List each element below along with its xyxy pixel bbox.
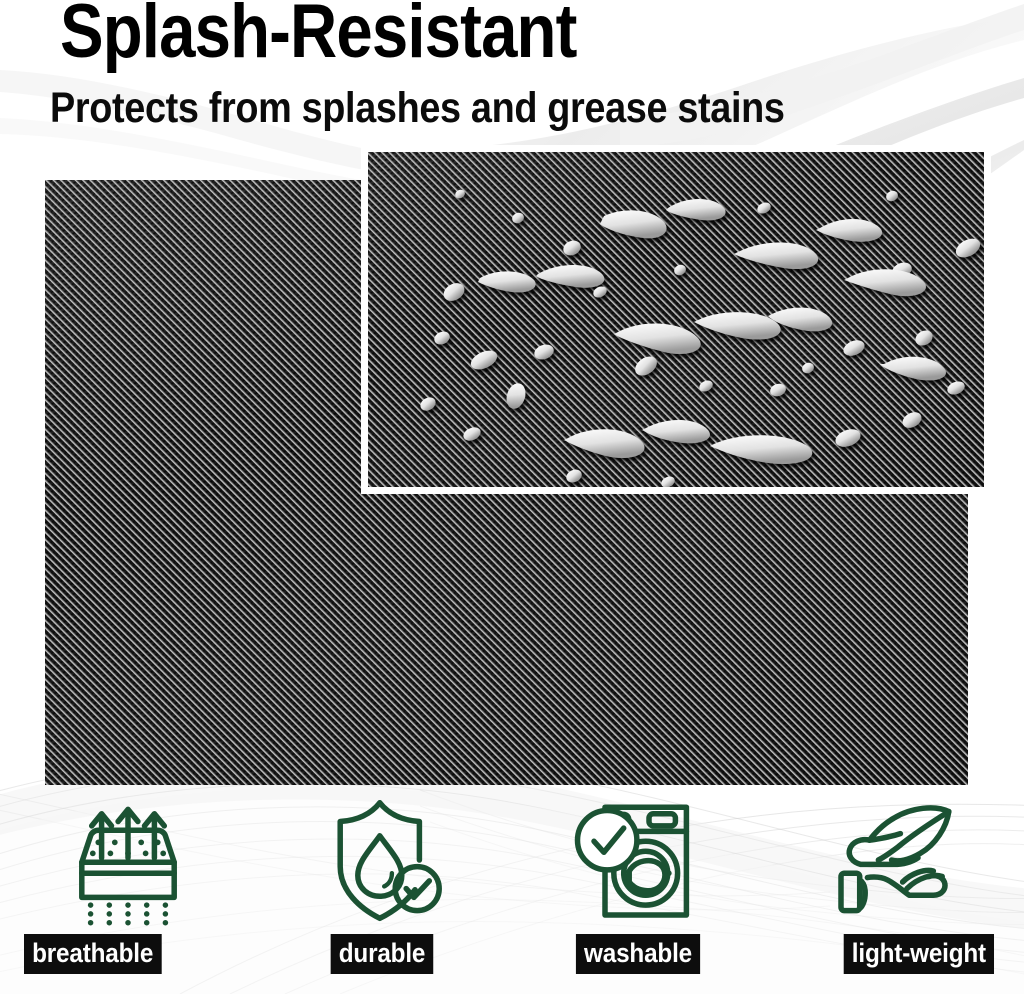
feature-label-breathable: breathable: [24, 934, 161, 974]
page-subtitle: Protects from splashes and grease stains: [50, 84, 785, 133]
feature-light-weight: light-weight: [768, 788, 1024, 994]
fabric-closeup-inset-frame: [361, 145, 991, 494]
shield-water-drop-check-icon: [316, 794, 448, 926]
feature-label-light-weight: light-weight: [844, 934, 994, 974]
feature-washable: washable: [510, 788, 766, 994]
feature-label-washable: washable: [576, 934, 700, 974]
fabric-swatch-closeup: [368, 152, 984, 487]
washing-machine-check-icon: [572, 794, 704, 926]
feature-label-durable: durable: [331, 934, 434, 974]
breathable-mattress-airflow-icon: [62, 794, 194, 926]
feature-icon-row: breathable durable: [0, 788, 1024, 994]
water-droplets-overlay: [368, 152, 984, 487]
feature-durable: durable: [254, 788, 510, 994]
page-title: Splash-Resistant: [60, 0, 577, 72]
hand-holding-feather-icon: [830, 794, 962, 926]
product-feature-infographic: Splash-Resistant Protects from splashes …: [0, 0, 1024, 994]
feature-breathable: breathable: [0, 788, 256, 994]
